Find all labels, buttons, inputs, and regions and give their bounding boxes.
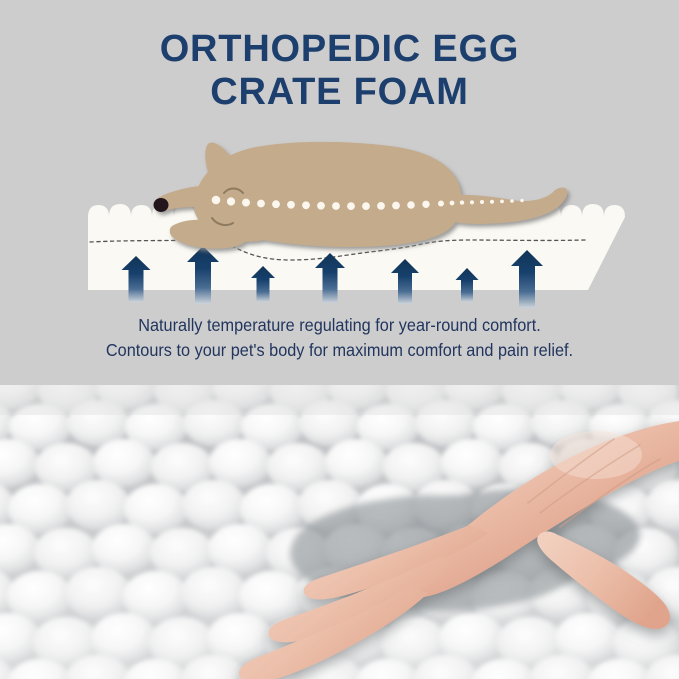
- subtitle-line-1: Naturally temperature regulating for yea…: [24, 313, 655, 338]
- title-line-1: ORTHOPEDIC EGG: [0, 28, 679, 71]
- product-infographic: ORTHOPEDIC EGG CRATE FOAM: [0, 0, 679, 679]
- illustration-panel: ORTHOPEDIC EGG CRATE FOAM: [0, 0, 679, 385]
- page-title: ORTHOPEDIC EGG CRATE FOAM: [0, 28, 679, 113]
- title-line-2: CRATE FOAM: [0, 71, 679, 114]
- hand-knuckle-highlight: [550, 431, 642, 479]
- photo-svg: [0, 385, 679, 679]
- hand-pressing-egg-crate-foam-photo: [0, 385, 679, 679]
- dog-on-foam-diagram: [0, 120, 679, 310]
- dog-nose: [154, 198, 169, 212]
- diagram-svg: [0, 120, 679, 310]
- photo-top-haze: [0, 385, 679, 415]
- foam-photo-content: [0, 385, 679, 679]
- subtitle: Naturally temperature regulating for yea…: [0, 313, 679, 363]
- subtitle-line-2: Contours to your pet's body for maximum …: [24, 338, 655, 363]
